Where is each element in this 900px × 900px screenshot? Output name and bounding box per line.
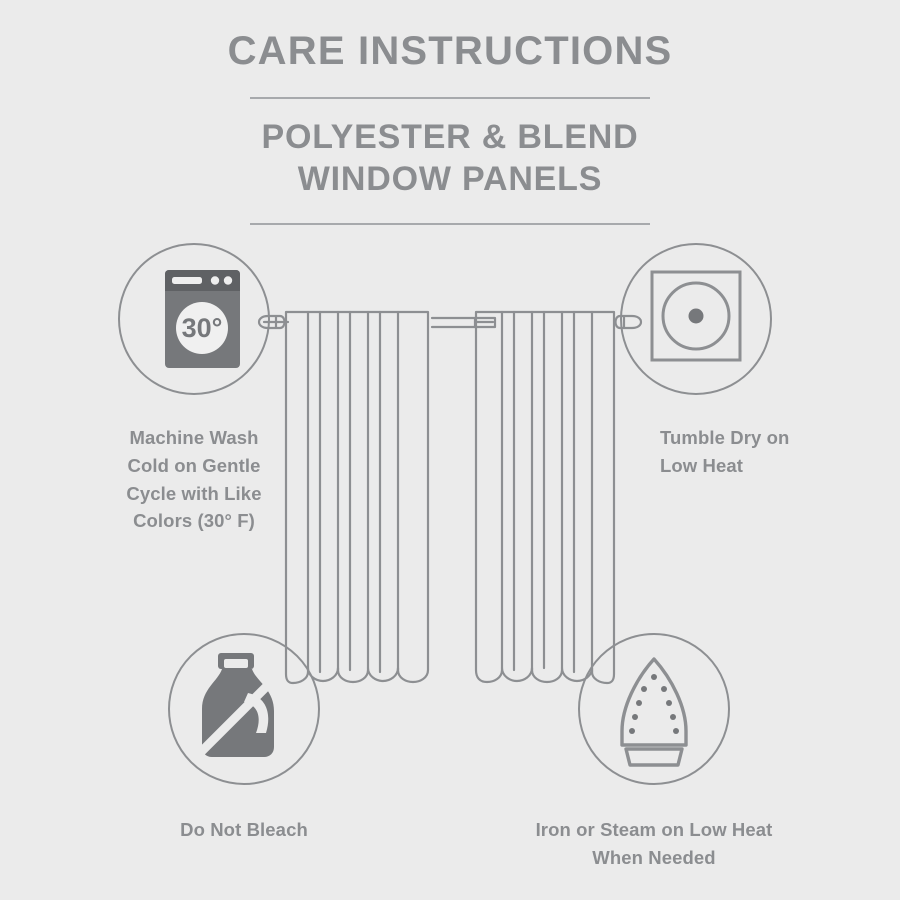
caption-line: Cold on Gentle bbox=[49, 452, 339, 480]
caption-do-not-bleach: Do Not Bleach bbox=[94, 816, 394, 844]
caption-line: Do Not Bleach bbox=[94, 816, 394, 844]
subtitle-line-1: POLYESTER & BLEND bbox=[0, 117, 900, 159]
iron-icon bbox=[580, 635, 728, 783]
subtitle-line-2: WINDOW PANELS bbox=[0, 159, 900, 201]
caption-line: Tumble Dry on bbox=[660, 424, 890, 452]
caption-line: Low Heat bbox=[660, 452, 890, 480]
caption-machine-wash: Machine Wash Cold on Gentle Cycle with L… bbox=[49, 424, 339, 535]
subtitle-divider bbox=[250, 223, 650, 225]
no-bleach-icon bbox=[170, 635, 318, 783]
caption-line: Colors (30° F) bbox=[49, 507, 339, 535]
badge-tumble-dry bbox=[620, 243, 772, 395]
tumble-dry-icon bbox=[622, 245, 770, 393]
caption-line: Cycle with Like bbox=[49, 480, 339, 508]
header: CARE INSTRUCTIONS POLYESTER & BLEND WIND… bbox=[0, 0, 900, 225]
wash-temperature-label: 30° bbox=[182, 313, 223, 343]
badge-iron bbox=[578, 633, 730, 785]
badge-do-not-bleach bbox=[168, 633, 320, 785]
caption-line: When Needed bbox=[504, 844, 804, 872]
caption-line: Iron or Steam on Low Heat bbox=[504, 816, 804, 844]
right-curtain-panel bbox=[476, 312, 614, 683]
caption-line: Machine Wash bbox=[49, 424, 339, 452]
washing-machine-icon: 30° bbox=[120, 245, 268, 393]
caption-tumble-dry: Tumble Dry on Low Heat bbox=[660, 424, 890, 480]
care-instructions-card: CARE INSTRUCTIONS POLYESTER & BLEND WIND… bbox=[0, 0, 900, 900]
page-title: CARE INSTRUCTIONS bbox=[0, 31, 900, 71]
title-divider bbox=[250, 97, 650, 99]
badge-machine-wash: 30° bbox=[118, 243, 270, 395]
caption-iron: Iron or Steam on Low Heat When Needed bbox=[504, 816, 804, 872]
page-subtitle: POLYESTER & BLEND WINDOW PANELS bbox=[0, 117, 900, 201]
